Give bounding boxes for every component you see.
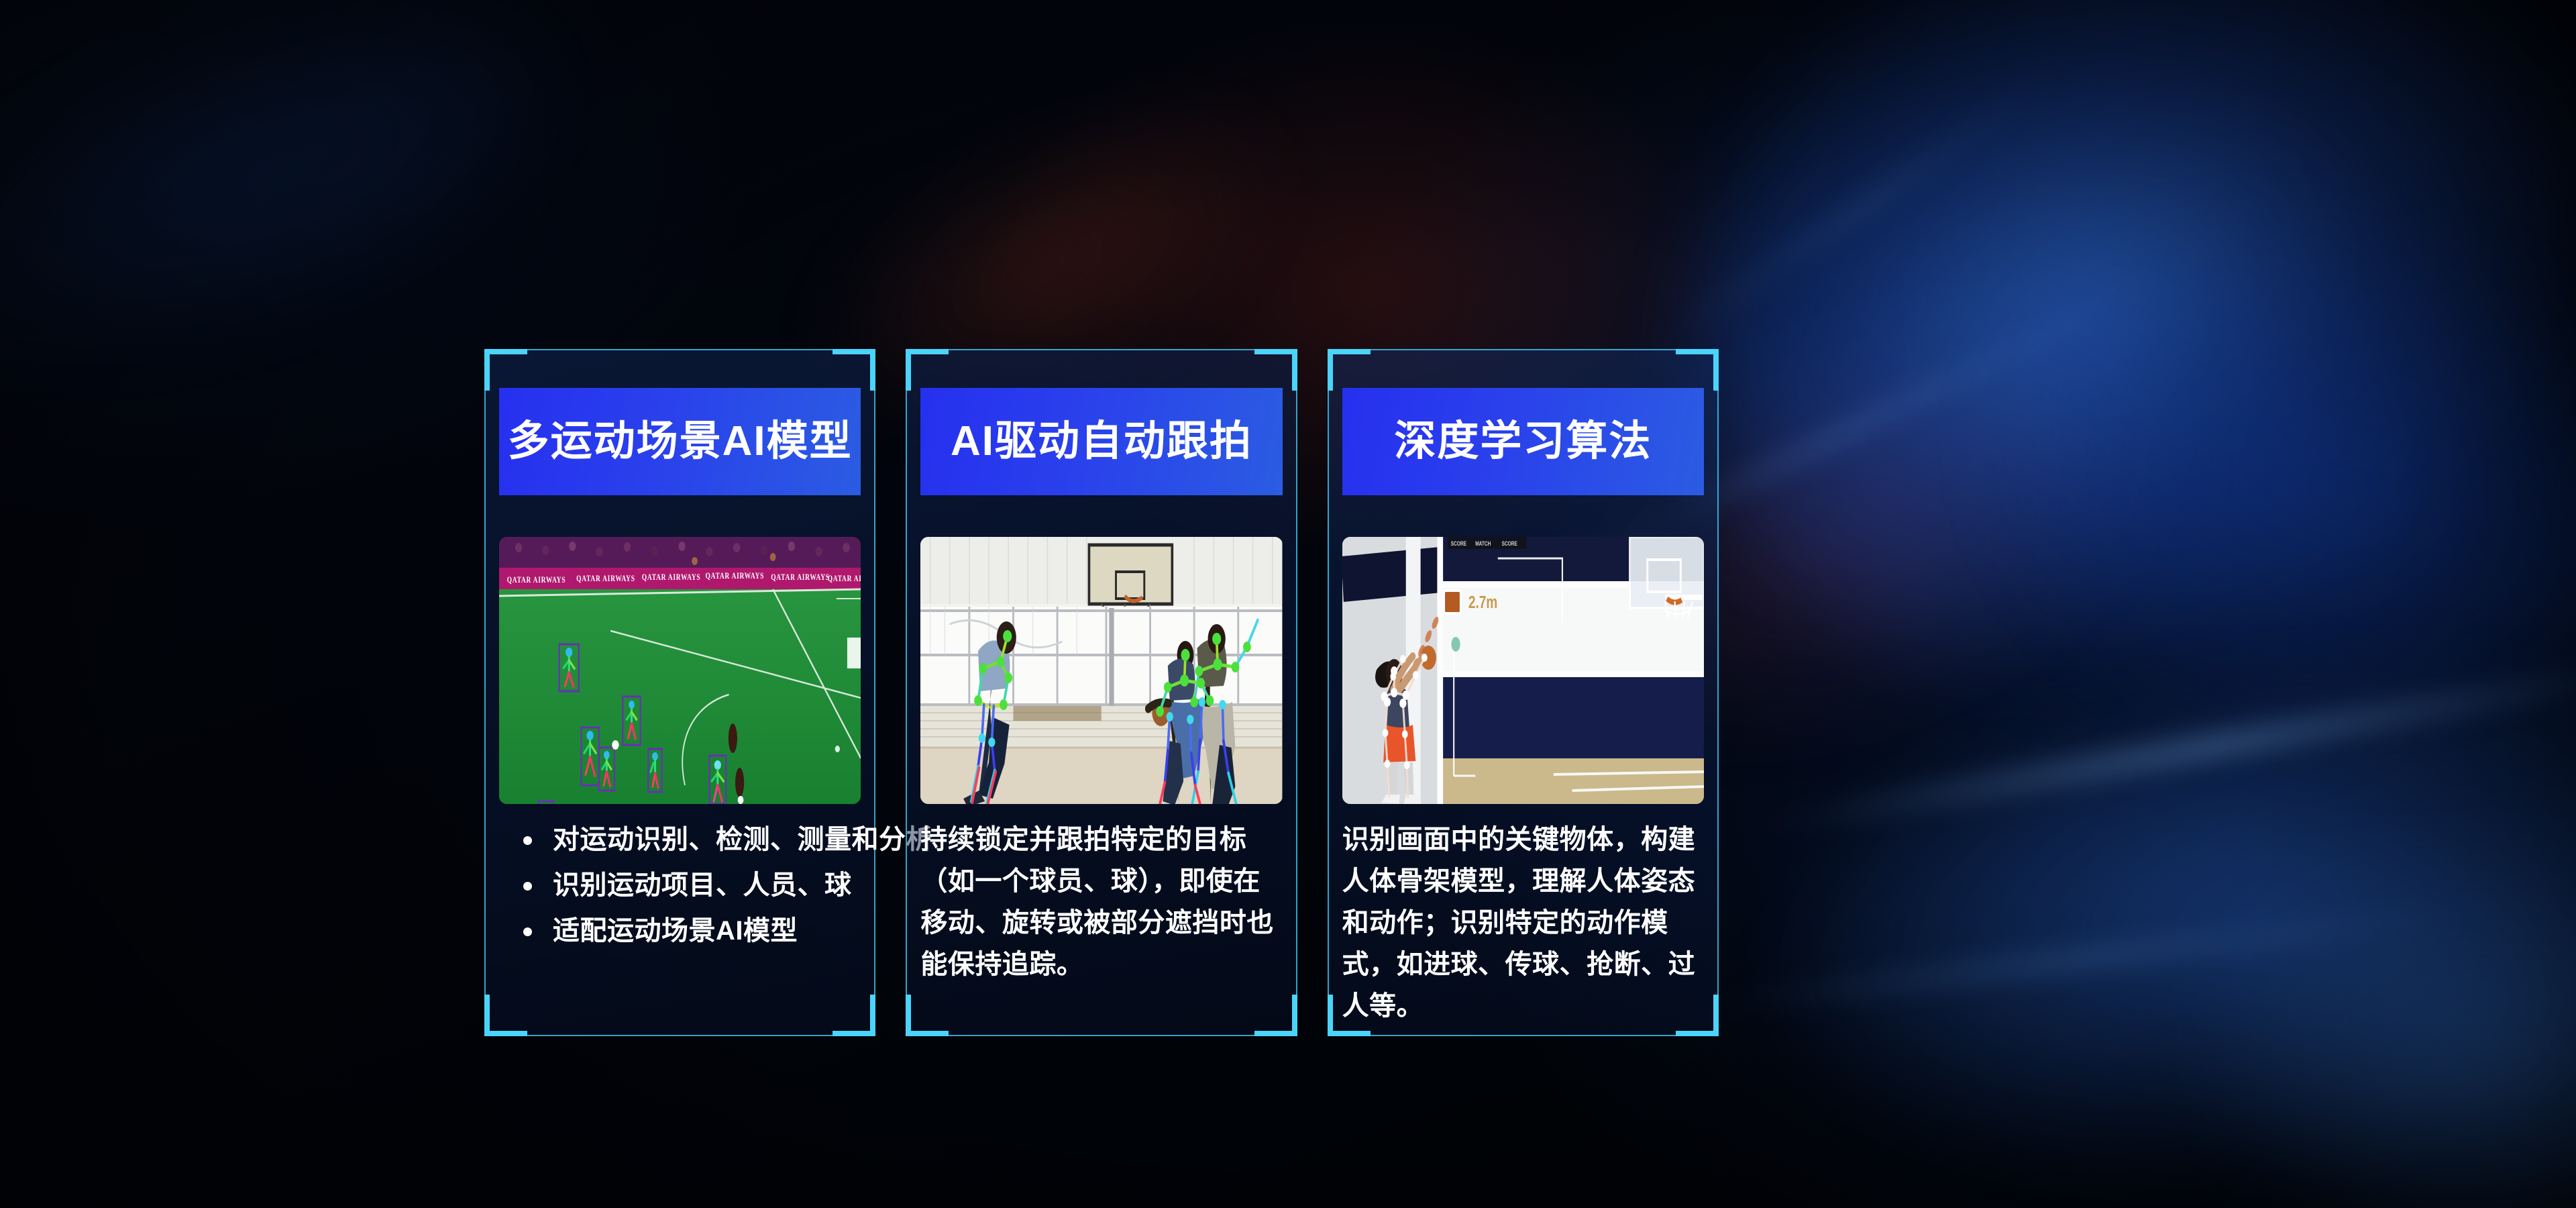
card-title-banner: 多运动场景AI模型: [499, 388, 861, 495]
feature-card-row: 多运动场景AI模型: [484, 349, 1719, 1036]
card-title-text: AI驱动自动跟拍: [951, 421, 1252, 462]
card-frame-bottom: [906, 1035, 1297, 1036]
list-item: 识别运动项目、人员、球: [518, 864, 862, 906]
feature-card-deep-learning-algorithm[interactable]: 深度学习算法 SCOREMATCHSCORE: [1328, 349, 1719, 1036]
svg-text:SCORE: SCORE: [1501, 540, 1517, 547]
card-body-paragraph: 识别画面中的关键物体，构建人体骨架模型，理解人体姿态和动作；识别特定的动作模式，…: [1342, 819, 1704, 1027]
card-frame-right: [1717, 349, 1719, 1036]
svg-text:QATAR AIRWAYS: QATAR AIRWAYS: [576, 574, 635, 584]
list-item: 适配运动场景AI模型: [518, 910, 862, 952]
soccer-player-detection-thumbnail[interactable]: QATAR AIRWAYS QATAR AIRWAYS QATAR AIRWAY…: [499, 537, 861, 804]
svg-text:2.7m: 2.7m: [1468, 592, 1497, 612]
card-frame-right: [874, 349, 875, 1036]
card-frame-left: [1328, 349, 1329, 1036]
basketball-pose-tracking-thumbnail[interactable]: [920, 537, 1282, 804]
card-title-banner: AI驱动自动跟拍: [920, 388, 1282, 495]
card-frame-right: [1296, 349, 1297, 1036]
svg-text:QATAR AIRWAYS: QATAR AIRWAYS: [771, 573, 830, 583]
feature-card-multi-sport-ai-model[interactable]: 多运动场景AI模型: [484, 349, 875, 1036]
shot-height-measurement-thumbnail[interactable]: SCOREMATCHSCORE: [1342, 537, 1704, 804]
card-title-text: 深度学习算法: [1394, 421, 1652, 462]
card-frame-top: [484, 349, 875, 350]
card-body: 持续锁定并跟拍特定的目标（如一个球员、球），即使在移动、旋转或被部分遮挡时也能保…: [920, 819, 1282, 985]
list-item: 对运动识别、检测、测量和分析: [518, 819, 862, 860]
feature-bullet-list: 对运动识别、检测、测量和分析 识别运动项目、人员、球 适配运动场景AI模型: [518, 819, 862, 952]
svg-text:MATCH: MATCH: [1475, 540, 1491, 547]
card-frame-top: [906, 349, 1297, 350]
svg-text:SCORE: SCORE: [1450, 540, 1466, 547]
card-body: 识别画面中的关键物体，构建人体骨架模型，理解人体姿态和动作；识别特定的动作模式，…: [1342, 819, 1704, 1027]
card-title-banner: 深度学习算法: [1342, 388, 1704, 495]
svg-text:QATAR AIRW: QATAR AIRW: [828, 574, 861, 584]
slide-canvas: 多运动场景AI模型: [0, 0, 2576, 1208]
svg-text:QATAR AIRWAYS: QATAR AIRWAYS: [507, 576, 566, 585]
card-frame-bottom: [1328, 1035, 1719, 1036]
card-frame-bottom: [484, 1035, 875, 1036]
card-body: 对运动识别、检测、测量和分析 识别运动项目、人员、球 适配运动场景AI模型: [518, 819, 862, 956]
card-frame-left: [906, 349, 907, 1036]
svg-text:QATAR AIRWAYS: QATAR AIRWAYS: [706, 572, 765, 581]
card-title-text: 多运动场景AI模型: [508, 421, 853, 462]
card-frame-left: [484, 349, 486, 1036]
svg-text:QATAR AIRWAYS: QATAR AIRWAYS: [642, 573, 701, 583]
feature-card-ai-auto-tracking[interactable]: AI驱动自动跟拍: [906, 349, 1297, 1036]
card-frame-top: [1328, 349, 1719, 350]
card-body-paragraph: 持续锁定并跟拍特定的目标（如一个球员、球），即使在移动、旋转或被部分遮挡时也能保…: [920, 819, 1282, 985]
